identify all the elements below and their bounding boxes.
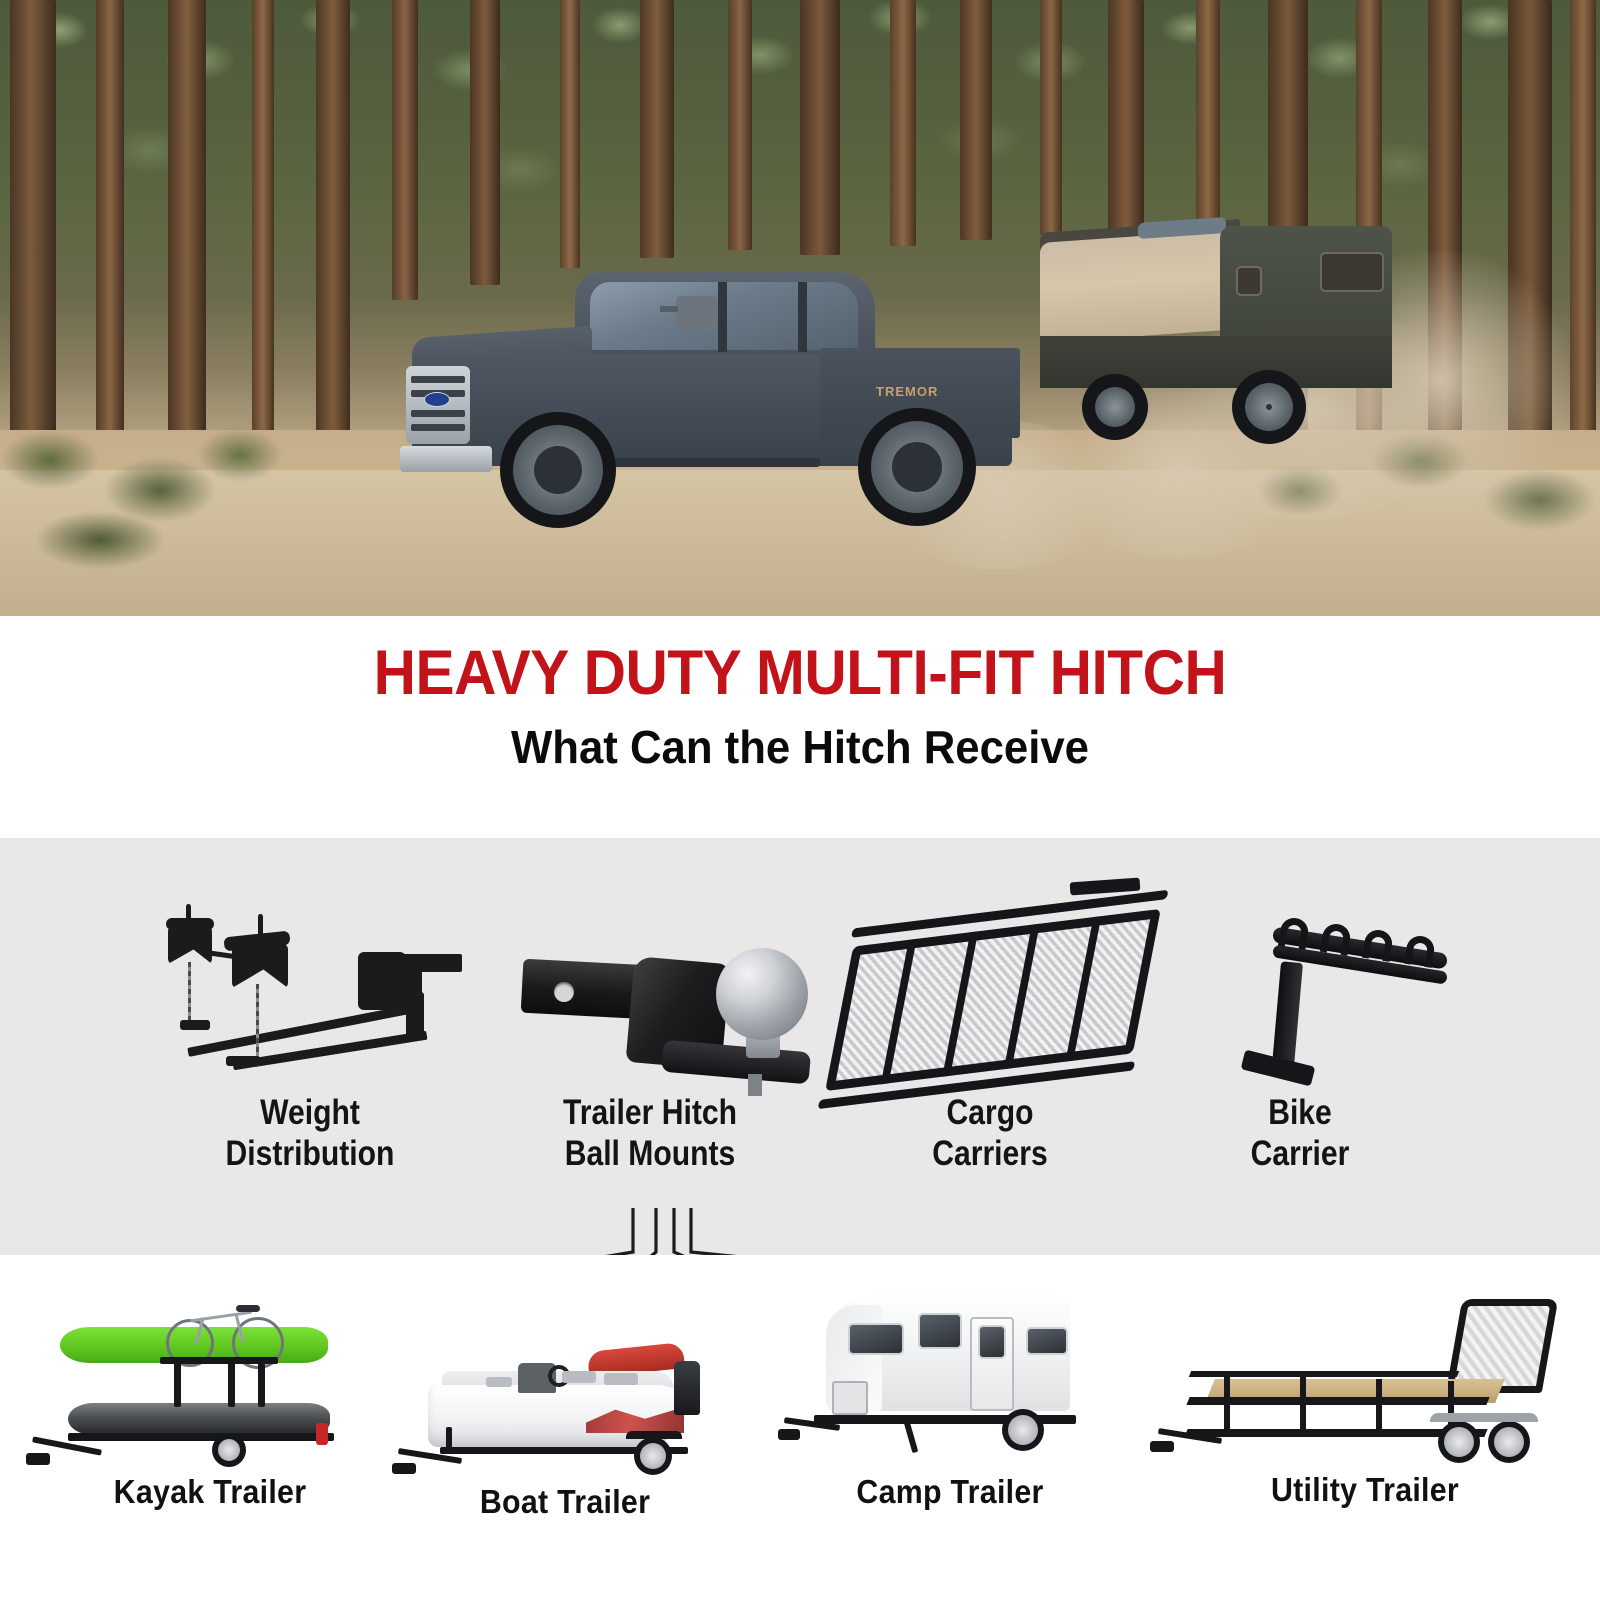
- camper-window: [848, 1323, 904, 1355]
- kayak-trailer-icon: [40, 1283, 380, 1473]
- roadside-brush-left: [0, 400, 290, 600]
- trailer-coupler: [1150, 1441, 1174, 1452]
- weight-distribution-hitch-icon: [140, 896, 480, 1086]
- boat-seat: [486, 1377, 512, 1387]
- truck-front-wheel: [500, 412, 616, 528]
- utility-trailer-icon: [1170, 1283, 1560, 1471]
- trailer-label: Utility Trailer: [1186, 1471, 1545, 1509]
- truck-tremor-badge: TREMOR: [876, 384, 938, 399]
- trailers-panel: Kayak Trailer Boat Trailer: [0, 1255, 1600, 1600]
- tree-trunk: [800, 0, 840, 255]
- tree-trunk: [392, 0, 418, 300]
- accessory-label: Weight Distribution: [164, 1092, 456, 1174]
- trailer-utility: Utility Trailer: [1170, 1283, 1560, 1509]
- cargo-basket: [825, 909, 1161, 1091]
- camper-wheel: [1082, 374, 1148, 440]
- trailer-stake-post: [1300, 1377, 1306, 1433]
- trailer-label: Boat Trailer: [404, 1483, 726, 1521]
- tree-trunk: [960, 0, 992, 240]
- boat-seat: [562, 1371, 596, 1383]
- accessory-bike-carrier: Bike Carrier: [1130, 896, 1470, 1174]
- camper-wheel: [1232, 370, 1306, 444]
- truck-rear-wheel: [858, 408, 976, 526]
- ford-emblem-icon: [424, 392, 450, 407]
- trailer-fender: [1430, 1413, 1538, 1422]
- bike-cradle: [1404, 934, 1436, 968]
- trailer-wheel: [212, 1433, 246, 1467]
- camper-ac-unit: [832, 1381, 868, 1415]
- tree-trunk: [1040, 0, 1062, 235]
- trailer-coupler: [778, 1429, 800, 1440]
- cargo-carrier-icon: [820, 896, 1160, 1086]
- gray-kayak: [68, 1403, 330, 1435]
- truck-b-pillar: [718, 282, 727, 352]
- pickup-truck: TREMOR: [400, 262, 1080, 542]
- rack-post: [174, 1361, 181, 1407]
- accessory-weight-distribution: Weight Distribution: [140, 896, 480, 1174]
- boat-seat: [604, 1373, 638, 1385]
- trailer-wheel: [1438, 1421, 1480, 1463]
- truck-c-pillar: [798, 282, 807, 352]
- camper-lower-body: [1040, 336, 1392, 388]
- camp-trailer-icon: [790, 1269, 1110, 1473]
- trailer-fender: [626, 1431, 682, 1439]
- trailer-stake-post: [1224, 1375, 1230, 1431]
- camper-window: [1026, 1327, 1068, 1355]
- trailer-wheel: [1488, 1421, 1530, 1463]
- camper-window: [1236, 266, 1262, 296]
- tree-trunk: [728, 0, 752, 250]
- tree-trunk: [890, 0, 916, 246]
- trailer-camp: Camp Trailer: [790, 1269, 1110, 1511]
- title-band: HEAVY DUTY MULTI-FIT HITCH What Can the …: [0, 616, 1600, 838]
- trailer-label: Camp Trailer: [803, 1473, 1097, 1511]
- camper-door-window: [978, 1325, 1006, 1359]
- outboard-motor: [674, 1361, 700, 1415]
- truck-mirror: [676, 296, 718, 330]
- tree-trunk: [640, 0, 674, 258]
- trailer-stabilizer: [904, 1421, 919, 1453]
- taillight: [316, 1423, 328, 1445]
- rack-crossbar: [160, 1357, 278, 1364]
- trailer-coupler: [392, 1463, 416, 1474]
- page-subtitle: What Can the Hitch Receive: [40, 722, 1560, 772]
- accessory-label: Bike Carrier: [1154, 1092, 1446, 1174]
- rack-post: [258, 1361, 265, 1407]
- tree-trunk: [560, 0, 580, 268]
- trailer-side-rail: [1186, 1397, 1489, 1405]
- bike-cradle: [1320, 922, 1352, 956]
- trailer-winch-post: [446, 1427, 452, 1453]
- ball-mount-icon: [480, 896, 820, 1086]
- rack-post: [228, 1361, 235, 1407]
- bike-carrier-icon: [1130, 896, 1470, 1086]
- tree-trunk: [470, 0, 500, 285]
- ball-mount-plate: [661, 1040, 811, 1085]
- camper-window: [1320, 252, 1384, 292]
- ball-mount-pin-hole: [554, 982, 574, 1002]
- tree-trunk: [316, 0, 350, 456]
- tree-trunk: [252, 0, 274, 440]
- hero-photo: TREMOR: [0, 0, 1600, 616]
- bicycle-seat: [236, 1305, 260, 1312]
- cargo-carrier-shank: [1070, 878, 1141, 896]
- trailer-stake-post: [1376, 1379, 1382, 1435]
- tree-trunk: [168, 0, 206, 462]
- hitch-ball-icon: [716, 948, 808, 1040]
- trailer-wheel: [1002, 1409, 1044, 1451]
- bike-cradle: [1362, 928, 1394, 962]
- trailer-coupler: [26, 1453, 50, 1465]
- trailer-kayak: Kayak Trailer: [40, 1283, 380, 1511]
- page-title: HEAVY DUTY MULTI-FIT HITCH: [56, 640, 1544, 706]
- boat-trailer-icon: [390, 1307, 740, 1483]
- accessory-cargo-carriers: Cargo Carriers: [820, 896, 1160, 1174]
- tree-trunk: [96, 0, 124, 452]
- accessory-label: Cargo Carriers: [844, 1092, 1136, 1174]
- bike-cradle: [1278, 916, 1310, 950]
- trailer-boat: Boat Trailer: [390, 1307, 740, 1521]
- trailer-frame-rail: [68, 1433, 334, 1441]
- accessory-label: Trailer Hitch Ball Mounts: [504, 1092, 796, 1174]
- trailer-label: Kayak Trailer: [54, 1473, 367, 1511]
- accessory-ball-mounts: Trailer Hitch Ball Mounts: [480, 896, 820, 1174]
- camper-window: [918, 1313, 962, 1349]
- truck-bumper: [400, 446, 492, 472]
- trailer-wheel: [634, 1437, 672, 1475]
